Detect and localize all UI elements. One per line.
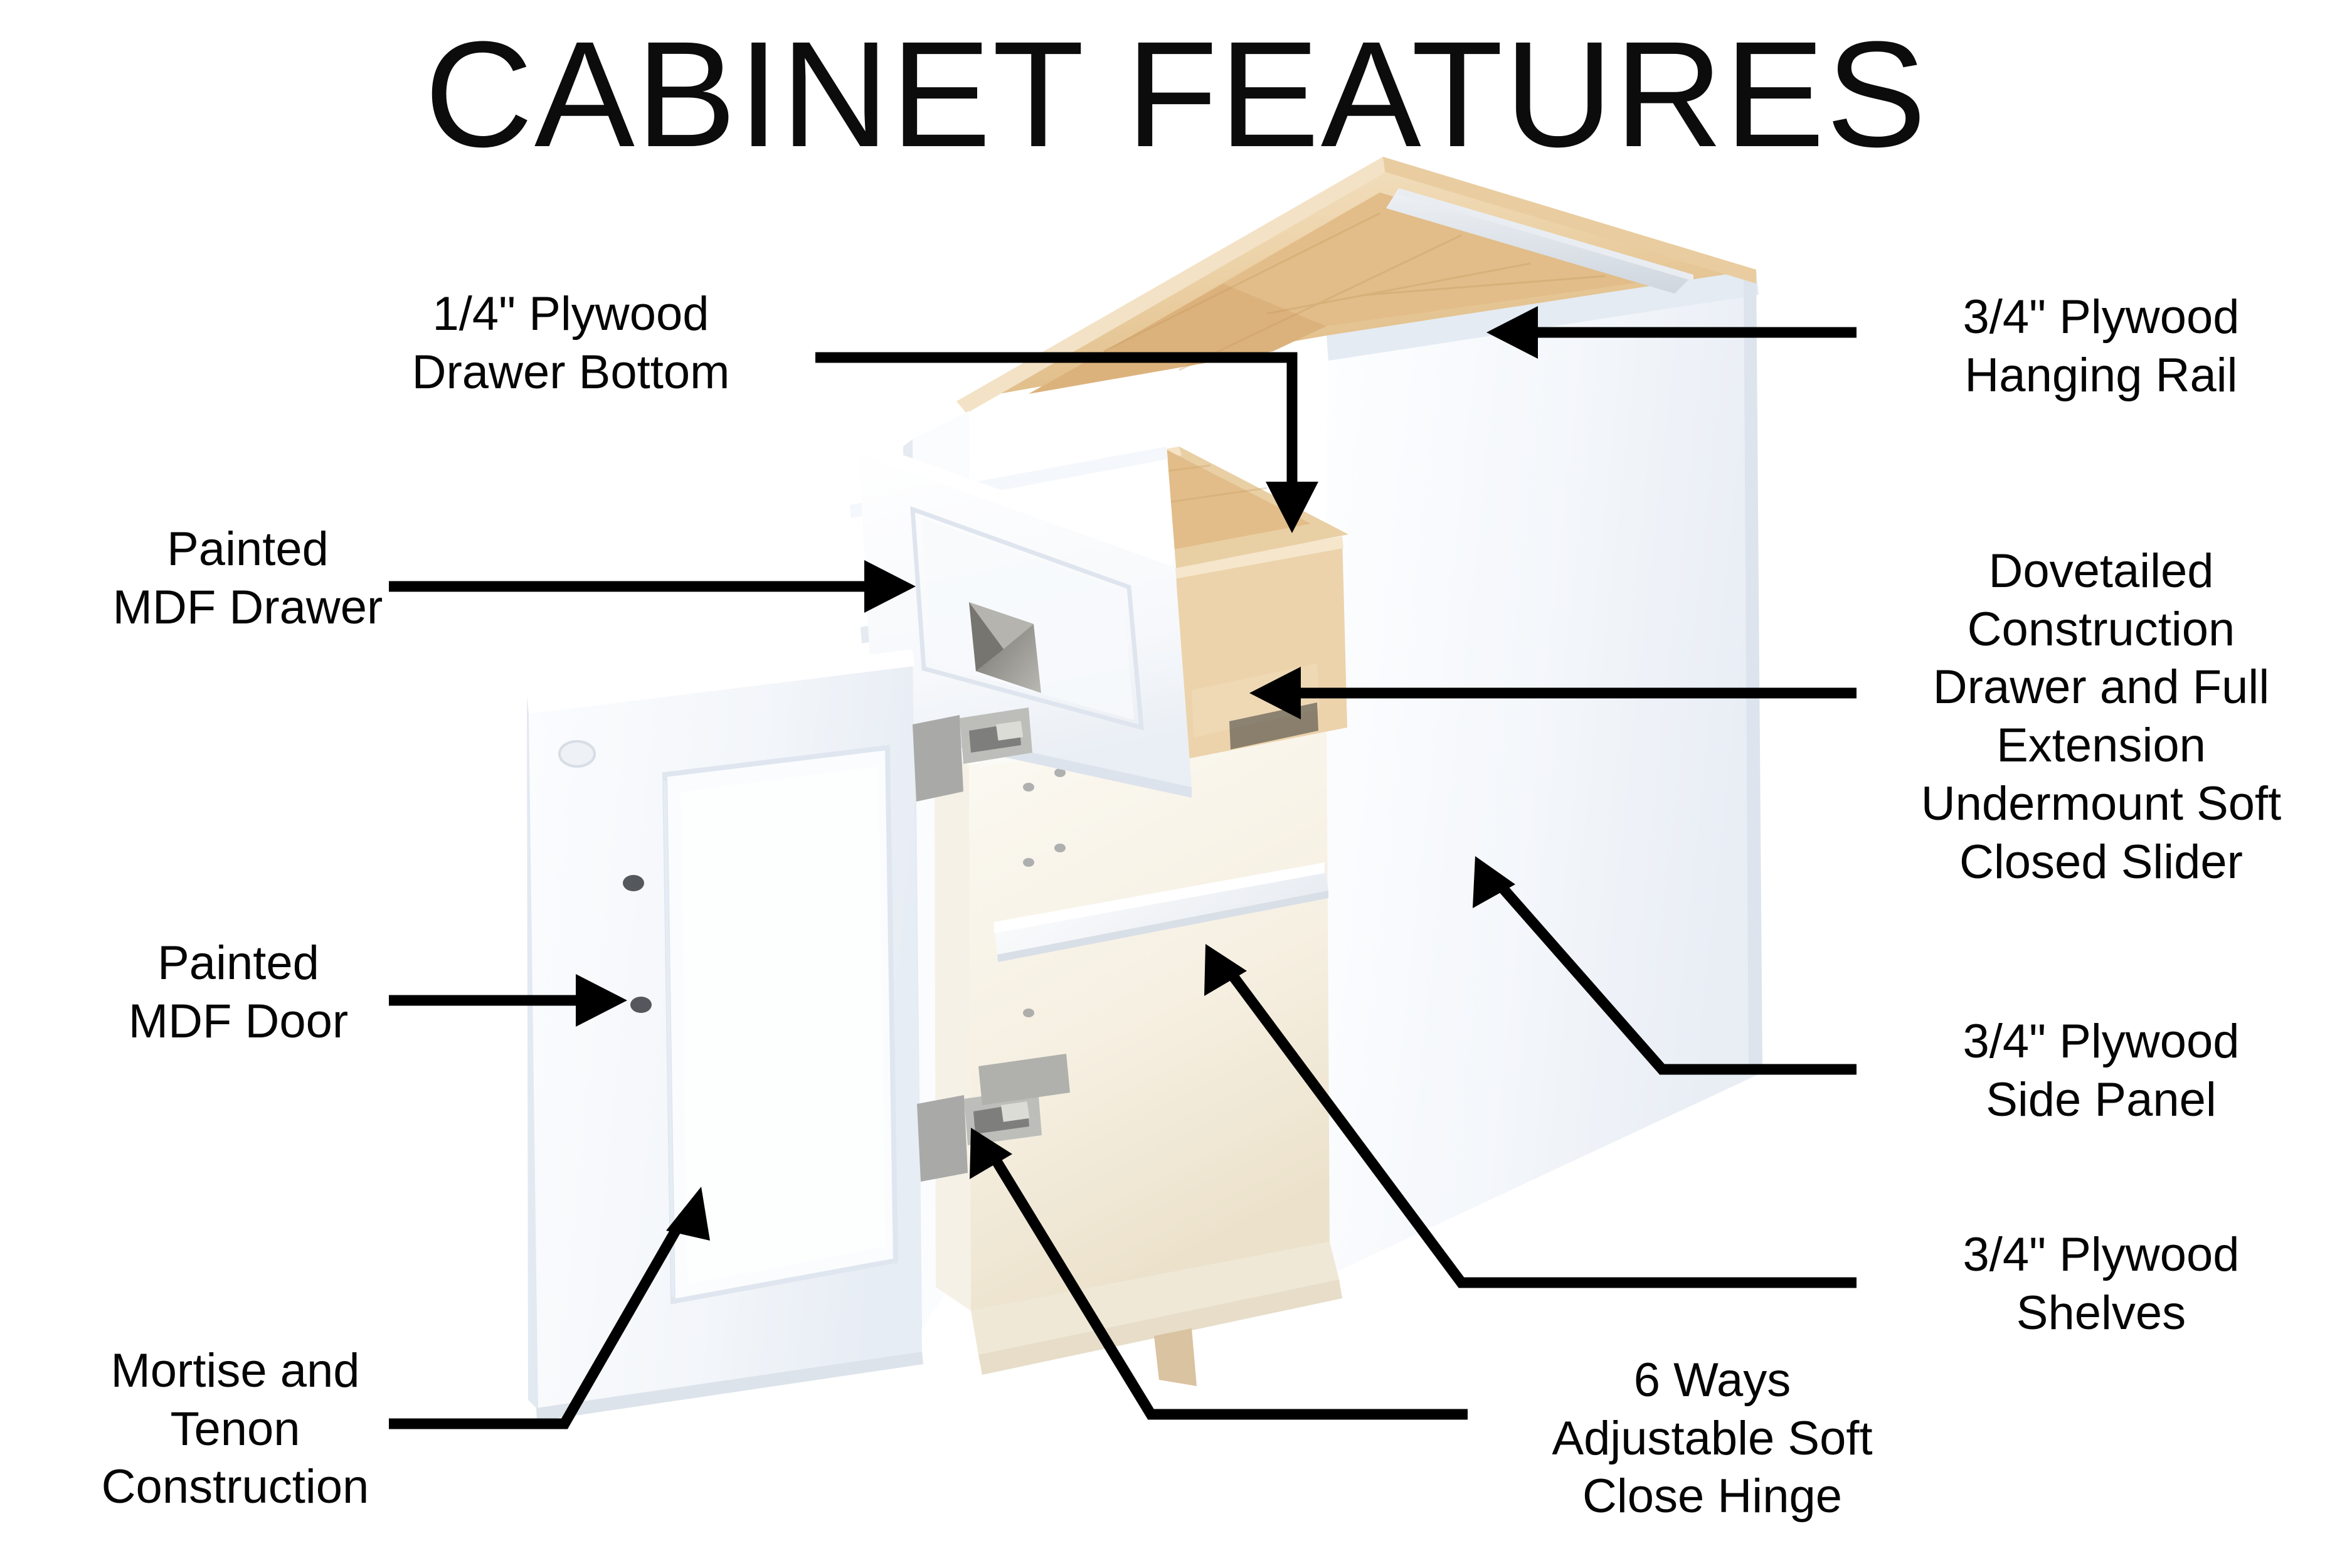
- callout-line: Undermount Soft: [1860, 775, 2343, 834]
- callout-mortise-tenon: Mortise and Tenon Construction: [34, 1342, 436, 1517]
- callout-shelves: 3/4" Plywood Shelves: [1882, 1226, 2321, 1342]
- callout-dovetail-slider: Dovetailed Construction Drawer and Full …: [1860, 543, 2343, 891]
- callout-line: Extension: [1860, 717, 2343, 775]
- callout-line: Tenon: [34, 1401, 436, 1459]
- callout-line: Drawer and Full: [1860, 659, 2343, 717]
- callout-line: 3/4" Plywood: [1882, 289, 2321, 347]
- callout-line: Adjustable Soft: [1493, 1410, 1932, 1468]
- callout-painted-door: Painted MDF Door: [38, 935, 439, 1051]
- callout-line: Construction: [1860, 601, 2343, 659]
- poster-canvas: CABINET FEATURES: [0, 0, 2352, 1568]
- callout-line: Shelves: [1882, 1285, 2321, 1343]
- callout-drawer-bottom: 1/4" Plywood Drawer Bottom: [351, 285, 790, 401]
- callout-line: Closed Slider: [1860, 834, 2343, 892]
- callout-hanging-rail: 3/4" Plywood Hanging Rail: [1882, 289, 2321, 405]
- callout-side-panel: 3/4" Plywood Side Panel: [1882, 1013, 2321, 1129]
- callout-painted-drawer: Painted MDF Drawer: [47, 521, 448, 637]
- cabinet-side-panel: [1327, 270, 1762, 1276]
- callout-line: MDF Door: [38, 993, 439, 1051]
- callout-line: Painted: [38, 935, 439, 993]
- callout-line: Painted: [47, 521, 448, 579]
- callout-soft-close-hinge: 6 Ways Adjustable Soft Close Hinge: [1493, 1352, 1932, 1526]
- callout-line: 1/4" Plywood: [351, 285, 790, 344]
- callout-line: Side Panel: [1882, 1071, 2321, 1130]
- callout-line: 3/4" Plywood: [1882, 1226, 2321, 1285]
- callout-line: Drawer Bottom: [351, 344, 790, 402]
- callout-line: Dovetailed: [1860, 543, 2343, 601]
- cabinet-door[interactable]: [527, 649, 923, 1421]
- callout-line: 3/4" Plywood: [1882, 1013, 2321, 1071]
- callout-line: 6 Ways: [1493, 1352, 1932, 1410]
- callout-line: Close Hinge: [1493, 1468, 1932, 1526]
- callout-line: MDF Drawer: [47, 579, 448, 637]
- callout-line: Mortise and: [34, 1342, 436, 1401]
- callout-line: Construction: [34, 1458, 436, 1517]
- callout-line: Hanging Rail: [1882, 347, 2321, 405]
